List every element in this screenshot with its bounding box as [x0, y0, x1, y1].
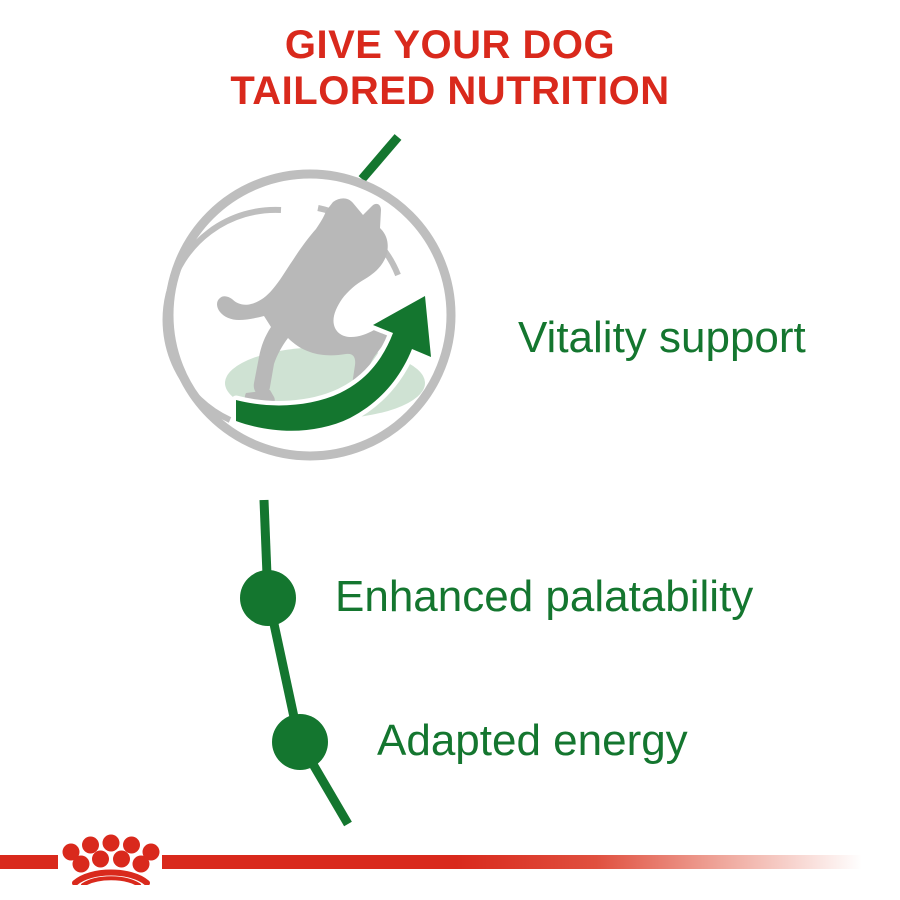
crown-dot-mid-right-2: [133, 856, 150, 873]
benefit-label-vitality-support: Vitality support: [518, 313, 806, 363]
headline-line-1: GIVE YOUR DOG: [0, 22, 900, 68]
headline-line-2: TAILORED NUTRITION: [0, 68, 900, 114]
connector-segment-3: [300, 742, 348, 824]
royal-canin-crown-logo: [55, 833, 167, 885]
brand-rule-left: [0, 855, 58, 869]
crown-dot-mid-right-1: [113, 851, 130, 868]
crown-dot-mid-left-2: [73, 856, 90, 873]
connector-segment-2: [268, 596, 300, 745]
jumping-dog-in-circle-icon: [160, 165, 460, 465]
crown-arc-inner: [83, 878, 139, 885]
connector-segment-1: [264, 500, 268, 600]
crown-dot-mid-left-1: [92, 851, 109, 868]
brand-footer: [0, 853, 900, 900]
connector-dot-1: [240, 570, 296, 626]
benefit-label-adapted-energy: Adapted energy: [377, 716, 688, 766]
benefits-panel: GIVE YOUR DOG TAILORED NUTRITION: [0, 0, 900, 900]
crown-dot-top-center: [103, 835, 120, 852]
page-title: GIVE YOUR DOG TAILORED NUTRITION: [0, 22, 900, 114]
connector-dot-2: [272, 714, 328, 770]
brand-rule-right: [162, 855, 862, 869]
crown-dot-top-right-1: [123, 837, 140, 854]
crown-dot-top-left-1: [82, 837, 99, 854]
benefit-label-enhanced-palatability: Enhanced palatability: [335, 572, 753, 622]
